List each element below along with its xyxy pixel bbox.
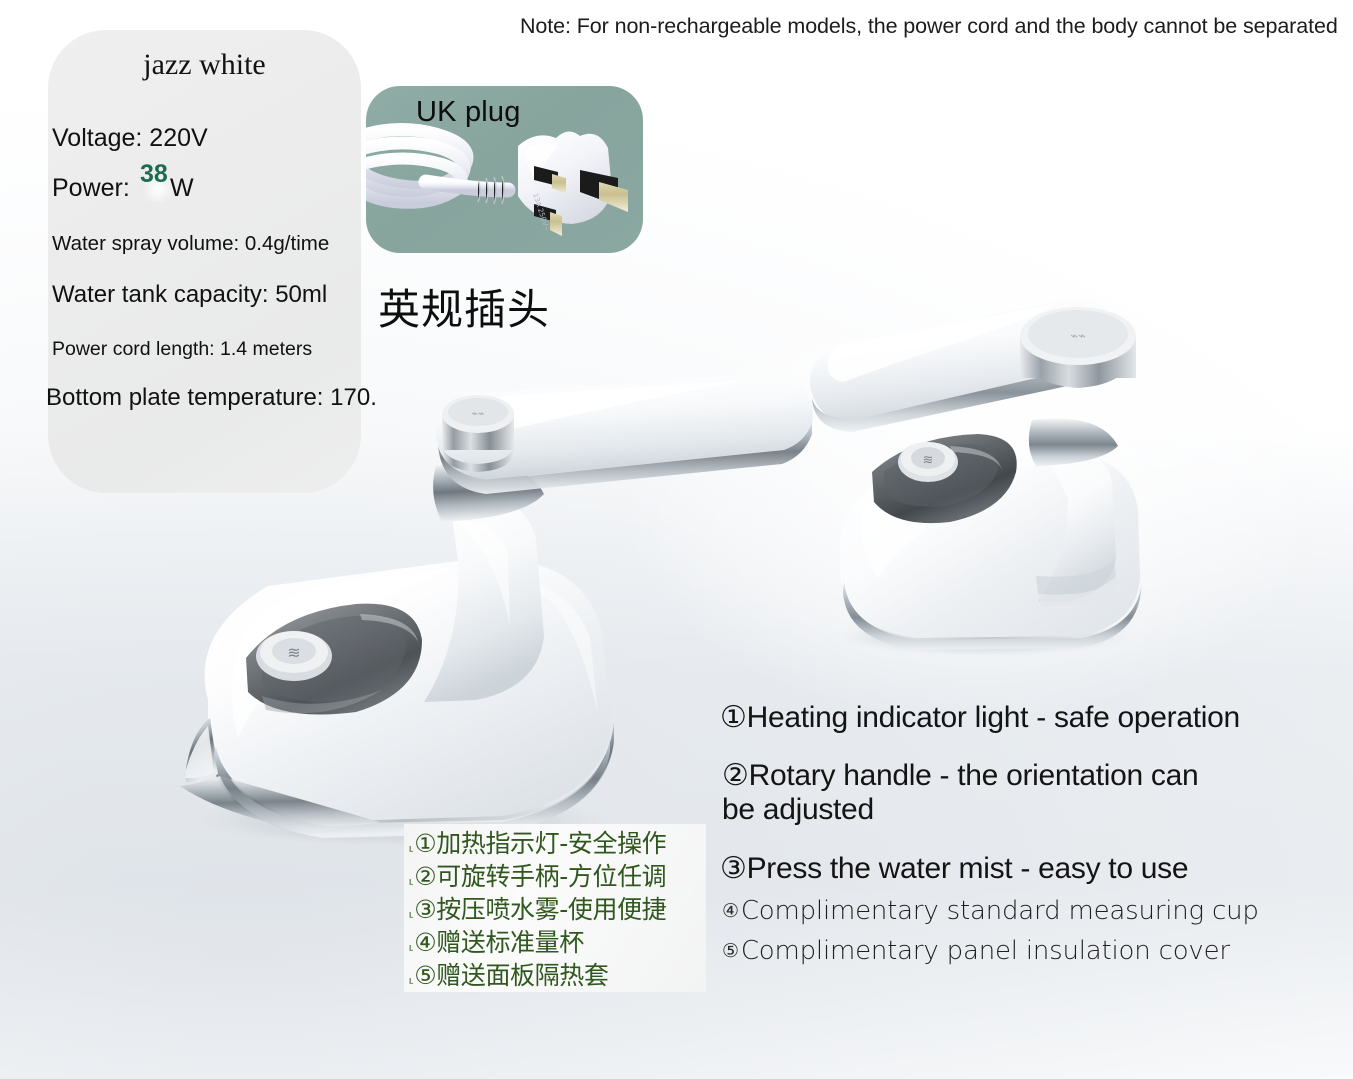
cn-feature-item-2: ⸤②可旋转手柄-方位任调 (408, 857, 666, 893)
en-feature-item-1: ①Heating indicator light - safe operatio… (720, 700, 1240, 735)
cn-text-5: 赠送面板隔热套 (436, 961, 608, 990)
specification-card (48, 30, 361, 493)
cn-marker-2: ② (414, 862, 436, 891)
svg-text:≋: ≋ (923, 453, 934, 468)
svg-text:≋: ≋ (287, 643, 300, 662)
spec-power-value: 38 (140, 160, 168, 189)
disclaimer-note: Note: For non-rechargeable models, the p… (520, 14, 1353, 39)
product-photo-back-iron: ⌁⌁ ≋ (800, 258, 1200, 658)
cn-text-1: 加热指示灯-安全操作 (436, 829, 666, 858)
product-infographic: ⌁⌁ ≋ (0, 0, 1353, 1079)
cn-text-4: 赠送标准量杯 (436, 928, 584, 957)
cn-feature-item-4: ⸤④赠送标准量杯 (408, 923, 584, 959)
en-marker-5: ⑤ (722, 940, 739, 962)
spec-tank-capacity: Water tank capacity: 50ml (52, 281, 327, 309)
spec-spray-volume: Water spray volume: 0.4g/time (52, 232, 329, 256)
cn-feature-item-1: ⸤①加热指示灯-安全操作 (408, 824, 666, 860)
spec-power-label: Power: (52, 174, 130, 203)
en-feature-item-3: ③Press the water mist - easy to use (720, 851, 1188, 886)
spec-voltage: Voltage: 220V (52, 124, 208, 153)
product-color-title: jazz white (48, 48, 361, 82)
svg-text:⌁⌁: ⌁⌁ (471, 407, 484, 420)
en-feature-item-4: ④Complimentary standard measuring cup (722, 896, 1259, 926)
cn-text-3: 按压喷水雾-使用便捷 (436, 895, 666, 924)
cn-marker-1: ① (414, 829, 436, 858)
spec-cord-length: Power cord length: 1.4 meters (52, 338, 312, 361)
cn-feature-item-3: ⸤③按压喷水雾-使用便捷 (408, 890, 666, 926)
cn-text-2: 可旋转手柄-方位任调 (436, 862, 666, 891)
en-feature-item-2-line1: ②Rotary handle - the orientation can (722, 758, 1198, 793)
en-feature-item-5: ⑤Complimentary panel insulation cover (722, 936, 1230, 966)
uk-plug-label-en: UK plug (416, 96, 521, 129)
cn-marker-4: ④ (414, 928, 436, 957)
en-text-4: Complimentary standard measuring cup (741, 896, 1259, 926)
svg-text:⌁⌁: ⌁⌁ (1070, 329, 1086, 344)
en-text-5: Complimentary panel insulation cover (741, 936, 1230, 966)
spec-power-unit: W (170, 174, 194, 203)
uk-plug-label-cn: 英规插头 (378, 276, 550, 337)
en-feature-item-2-line2: be adjusted (722, 793, 874, 827)
cn-feature-item-5: ⸤⑤赠送面板隔热套 (408, 956, 608, 992)
cn-marker-5: ⑤ (414, 961, 436, 990)
spec-plate-temperature: Bottom plate temperature: 170. (46, 384, 377, 412)
en-marker-4: ④ (722, 900, 739, 922)
cn-marker-3: ③ (414, 895, 436, 924)
